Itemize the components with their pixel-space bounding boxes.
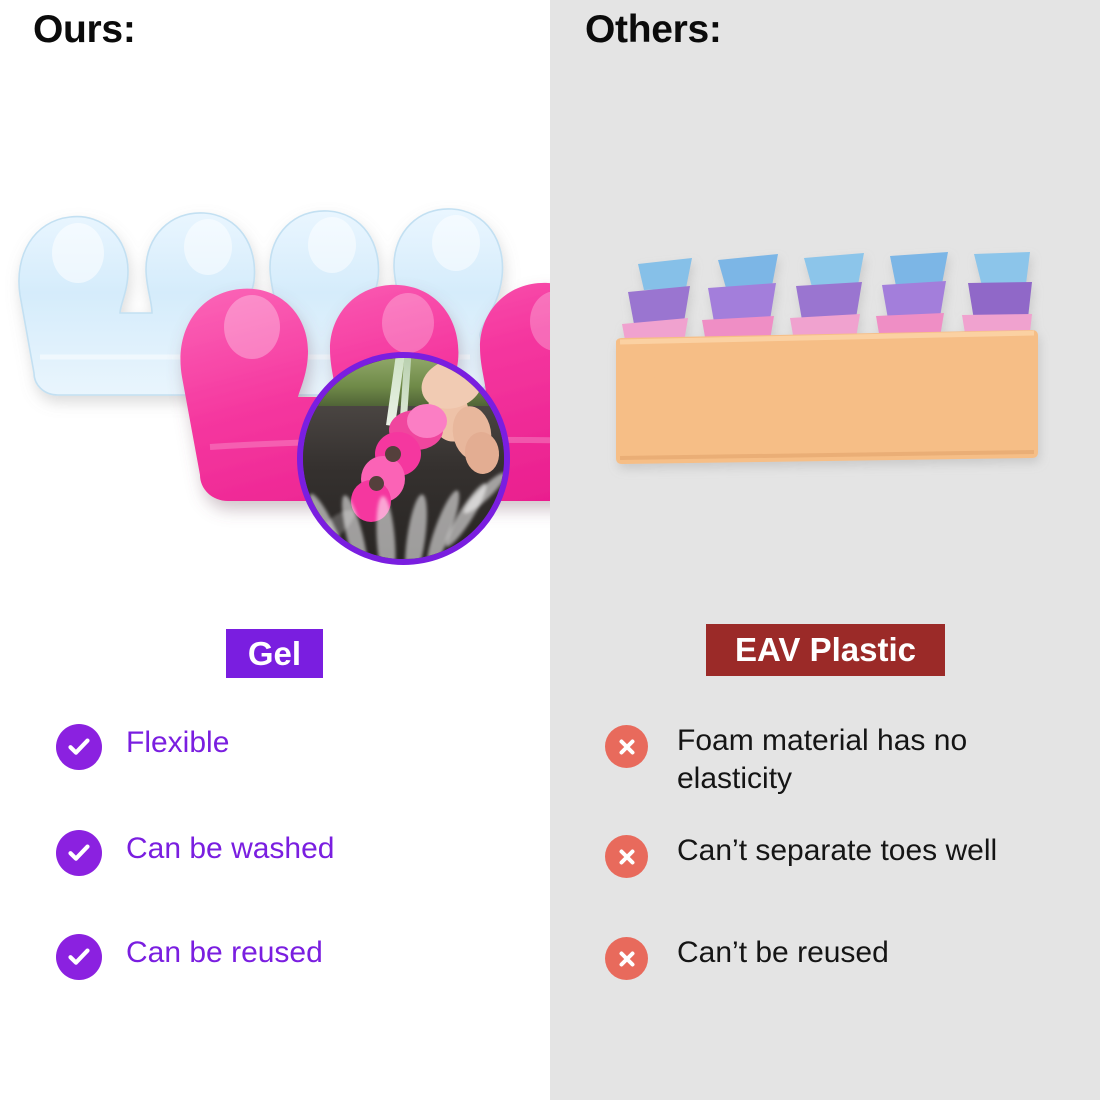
- check-circle-icon: [56, 724, 102, 770]
- pro-item: Flexible: [56, 722, 229, 770]
- foam-toe-separators-image: [600, 230, 1050, 480]
- ours-heading: Ours:: [33, 8, 136, 52]
- ours-panel: Ours:: [0, 0, 550, 1100]
- material-badge-eav-label: EAV Plastic: [735, 631, 916, 669]
- con-item: Foam material has no elasticity: [605, 722, 1067, 799]
- pro-item: Can be reused: [56, 932, 323, 980]
- cross-circle-icon: [605, 725, 648, 768]
- pro-item-label: Can be washed: [126, 828, 334, 868]
- con-item-label: Can’t be reused: [677, 934, 889, 972]
- washing-inset-photo: [297, 352, 510, 565]
- con-item: Can’t be reused: [605, 934, 889, 980]
- material-badge-eav-plastic: EAV Plastic: [706, 624, 945, 676]
- cross-circle-icon: [605, 835, 648, 878]
- check-circle-icon: [56, 934, 102, 980]
- con-item-label: Foam material has no elasticity: [677, 722, 1067, 799]
- pro-item-label: Flexible: [126, 722, 229, 762]
- cross-circle-icon: [605, 937, 648, 980]
- comparison-infographic: Ours:: [0, 0, 1100, 1100]
- pro-item: Can be washed: [56, 828, 334, 876]
- others-panel: Others:: [550, 0, 1100, 1100]
- check-circle-icon: [56, 830, 102, 876]
- con-item: Can’t separate toes well: [605, 832, 997, 878]
- others-heading: Others:: [585, 8, 722, 52]
- material-badge-gel: Gel: [226, 629, 323, 678]
- material-badge-gel-label: Gel: [248, 635, 301, 673]
- pro-item-label: Can be reused: [126, 932, 323, 972]
- con-item-label: Can’t separate toes well: [677, 832, 997, 870]
